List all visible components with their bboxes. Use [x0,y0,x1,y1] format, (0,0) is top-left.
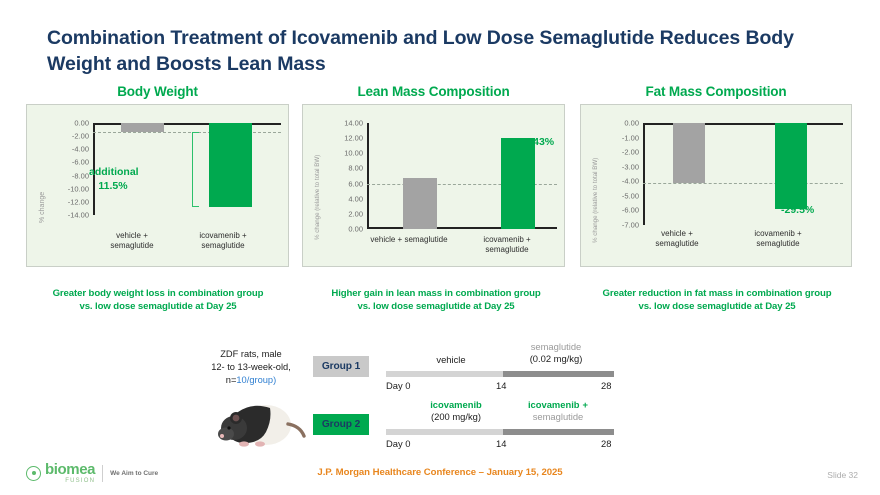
additional-bracket [192,132,199,208]
y-tick: -2.00 [72,132,89,140]
animal-count-prefix: n= [226,375,237,385]
y-tick: -7.00 [622,221,639,229]
additional-callout-line1: additional [89,165,137,179]
animal-info-line1: ZDF rats, male [190,348,312,361]
y-tick: 8.00 [348,165,363,173]
x-label-line2: semaglutide [737,239,819,249]
chart-panel-body-weight: % change 0.00 -2.00 -4.00 -6.00 -8.00 -1… [26,104,289,267]
group-1-badge: Group 1 [313,356,369,377]
chart-lean-mass: Lean Mass Composition % change (relative… [302,84,565,267]
study-design: ZDF rats, male 12- to 13-week-old, n=10/… [0,342,880,452]
caption-line2: vs. low dose semaglutide at Day 25 [22,301,294,314]
y-tick: -2.00 [622,148,639,156]
y-tick: 12.00 [344,134,363,142]
rat-illustration [200,398,308,450]
phase-label-line1: icovamenib+ [508,399,608,411]
y-tick: -6.00 [622,207,639,215]
caption-line2: vs. low dose semaglutide at Day 25 [300,301,572,314]
phase-label-line2: (200 mg/kg) [406,411,506,423]
x-label-line1: icovamenib + [465,235,549,245]
chart-panel-fat-mass: % change (relative to total BW) 0.00 -1.… [580,104,852,267]
y-axis-line [367,123,369,229]
reference-dashed-line [643,183,843,184]
x-label-line2: semaglutide [465,245,549,255]
additional-callout: additional 11.5% [89,165,137,193]
caption-line2: vs. low dose semaglutide at Day 25 [576,301,858,314]
group1-tick-14: 14 [496,380,506,391]
animal-info-line3: n=10/group) [190,374,312,387]
bar-icovamenib-semaglutide [775,123,807,209]
y-tick: -4.00 [72,146,89,154]
y-axis-ticks: 0.00 -2.00 -4.00 -6.00 -8.00 -10.00 -12.… [45,105,89,268]
chart-title-fat-mass: Fat Mass Composition [580,84,852,99]
x-label-icovamenib-semaglutide: icovamenib + semaglutide [737,229,819,249]
group1-tick-28: 28 [601,380,611,391]
phase-label-line2: semaglutide [508,411,608,423]
charts-row: Body Weight % change 0.00 -2.00 -4.00 -6… [0,84,880,284]
y-tick: 4.00 [348,195,363,203]
y-tick: 2.00 [348,210,363,218]
bar-vehicle-semaglutide [121,123,164,132]
x-label-vehicle-semaglutide: vehicle + semaglutide [639,229,715,249]
page-title: Combination Treatment of Icovamenib and … [47,26,847,77]
x-label-line1: vehicle + [99,231,165,241]
group2-segment-day0-14 [386,429,503,435]
y-tick: 0.00 [74,119,89,127]
bar-icovamenib-semaglutide [501,138,535,229]
y-tick: -4.00 [622,178,639,186]
chart-fat-mass: Fat Mass Composition % change (relative … [580,84,852,267]
y-tick: -14.00 [68,211,89,219]
x-label-line1: icovamenib + [737,229,819,239]
group1-segment-day0-14 [386,371,503,377]
phase-plus-sign: + [583,399,588,410]
bar-icovamenib-semaglutide [209,123,252,207]
x-label-line2: semaglutide [639,239,715,249]
y-tick: -6.00 [72,159,89,167]
animal-count-value: 10/group) [236,375,276,385]
callout-fat-mass: -29.5% [781,204,814,216]
y-tick: 10.00 [344,150,363,158]
group2-tick-28: 28 [601,438,611,449]
phase-label-line1: icovamenib [406,399,506,411]
callout-lean-mass: +43% [527,136,554,148]
caption-body-weight: Greater body weight loss in combination … [22,288,294,314]
caption-lean-mass: Higher gain in lean mass in combination … [300,288,572,314]
group1-segment-day14-28 [503,371,614,377]
y-tick: -10.00 [68,185,89,193]
phase-label-line1: semaglutide [504,341,608,353]
y-axis-ticks: 14.00 12.00 10.00 8.00 6.00 4.00 2.00 0.… [319,105,363,268]
chart-title-lean-mass: Lean Mass Composition [302,84,565,99]
phase-label-line2: (0.02 mg/kg) [504,353,608,365]
x-label-vehicle-semaglutide: vehicle + semaglutide [359,235,459,245]
group1-tick-day0: Day 0 [386,380,411,391]
slide-number: Slide 32 [827,470,858,480]
conference-label: J.P. Morgan Healthcare Conference – Janu… [0,467,880,478]
group-2-badge: Group 2 [313,414,369,435]
y-tick: -3.00 [622,163,639,171]
y-axis-ticks: 0.00 -1.00 -2.00 -3.00 -4.00 -5.00 -6.00… [597,105,639,268]
x-label-icovamenib-semaglutide: icovamenib + semaglutide [185,231,261,251]
additional-callout-line2: 11.5% [89,179,137,193]
group2-phase1-label: icovamenib (200 mg/kg) [406,399,506,423]
reference-dashed-line [93,132,281,133]
phase-label: vehicle [412,354,490,366]
y-tick: -12.00 [68,198,89,206]
group2-tick-day0: Day 0 [386,438,411,449]
y-axis-line [643,123,645,225]
x-label-vehicle-semaglutide: vehicle + semaglutide [99,231,165,251]
caption-line1: Higher gain in lean mass in combination … [300,288,572,301]
chart-panel-lean-mass: % change (relative to total BW) 14.00 12… [302,104,565,267]
group1-phase1-label: vehicle [412,354,490,366]
animal-model-info: ZDF rats, male 12- to 13-week-old, n=10/… [190,348,312,388]
y-tick: -5.00 [622,192,639,200]
group2-timeline-bar [386,429,614,435]
x-label-line1: icovamenib + [185,231,261,241]
group2-tick-14: 14 [496,438,506,449]
y-tick: -1.00 [622,134,639,142]
bar-vehicle-semaglutide [673,123,705,183]
phase-drug-name: icovamenib [528,399,580,410]
chart-captions: Greater body weight loss in combination … [0,288,880,322]
bar-vehicle-semaglutide [403,178,437,230]
group2-phase2-label: icovamenib+ semaglutide [508,399,608,423]
x-label-icovamenib-semaglutide: icovamenib + semaglutide [465,235,549,255]
group1-timeline-bar [386,371,614,377]
x-label-line1: vehicle + [639,229,715,239]
caption-line1: Greater reduction in fat mass in combina… [576,288,858,301]
caption-fat-mass: Greater reduction in fat mass in combina… [576,288,858,314]
group2-segment-day14-28 [503,429,614,435]
y-tick: -8.00 [72,172,89,180]
y-tick: 0.00 [348,225,363,233]
chart-body-weight: Body Weight % change 0.00 -2.00 -4.00 -6… [26,84,289,267]
y-tick: 0.00 [624,119,639,127]
y-tick: 14.00 [344,119,363,127]
x-label-line2: semaglutide [185,241,261,251]
caption-line1: Greater body weight loss in combination … [22,288,294,301]
animal-info-line2: 12- to 13-week-old, [190,361,312,374]
y-tick: 6.00 [348,180,363,188]
chart-title-body-weight: Body Weight [26,84,289,99]
group1-phase2-label: semaglutide (0.02 mg/kg) [504,341,608,365]
logo-subtitle: FUSION [45,478,95,484]
x-label-line2: semaglutide [99,241,165,251]
footer: biomea FUSION We Aim to Cure J.P. Morgan… [0,458,880,495]
